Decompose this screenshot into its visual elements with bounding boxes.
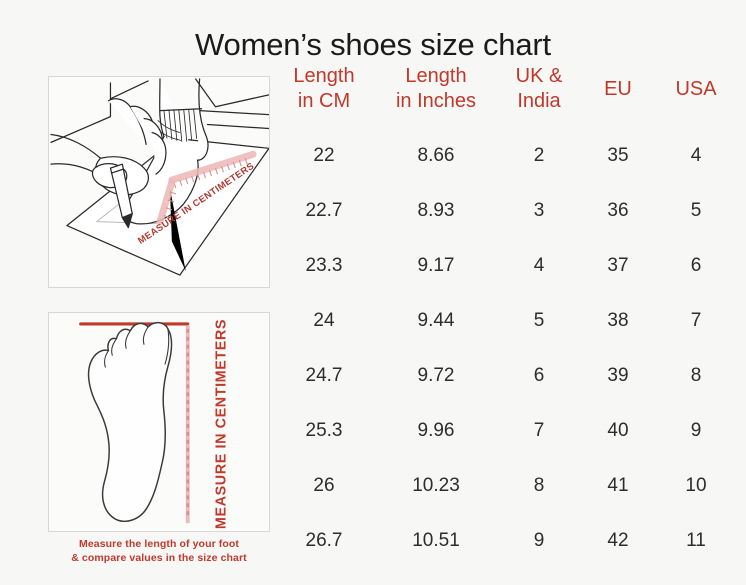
foot-shape: [89, 323, 172, 522]
cell-length-cm: 22.7: [272, 183, 376, 238]
cell-eu: 36: [582, 183, 654, 238]
size-chart-page: Women’s shoes size chart: [0, 0, 746, 585]
header-uk-india: UK & India: [496, 64, 582, 128]
cell-usa: 4: [654, 128, 738, 183]
measure-caption: Measure the length of your foot & compar…: [48, 537, 270, 565]
cell-usa: 11: [654, 513, 738, 568]
cell-eu: 41: [582, 458, 654, 513]
cell-usa: 6: [654, 238, 738, 293]
cell-length-cm: 25.3: [272, 403, 376, 458]
cell-length-cm: 24: [272, 293, 376, 348]
header-length-cm: Length in CM: [272, 64, 376, 128]
header-uk-india-line2: India: [496, 89, 582, 114]
cell-length-cm: 23.3: [272, 238, 376, 293]
cell-usa: 9: [654, 403, 738, 458]
header-usa: USA: [654, 64, 738, 128]
cell-length-inches: 9.72: [376, 348, 496, 403]
cell-length-inches: 9.17: [376, 238, 496, 293]
table-row: 228.662354: [272, 128, 738, 183]
cell-length-inches: 8.93: [376, 183, 496, 238]
table-row: 2610.2384110: [272, 458, 738, 513]
cell-eu: 35: [582, 128, 654, 183]
table-row: 26.710.5194211: [272, 513, 738, 568]
cell-usa: 8: [654, 348, 738, 403]
cell-length-cm: 26: [272, 458, 376, 513]
cell-eu: 40: [582, 403, 654, 458]
illustration-foot-outline: MEASURE IN CENTIMETERS: [48, 312, 270, 532]
cell-length-inches: 9.96: [376, 403, 496, 458]
cell-length-cm: 24.7: [272, 348, 376, 403]
cell-uk-india: 9: [496, 513, 582, 568]
table-body: 228.66235422.78.93336523.39.174376249.44…: [272, 128, 738, 568]
size-chart-table: Length in CM Length in Inches UK & India…: [272, 64, 738, 568]
cell-uk-india: 5: [496, 293, 582, 348]
cell-eu: 42: [582, 513, 654, 568]
table-row: 249.445387: [272, 293, 738, 348]
header-eu: EU: [582, 64, 654, 128]
caption-line-1: Measure the length of your foot: [48, 537, 270, 551]
header-eu-line1: EU: [582, 77, 654, 102]
cell-uk-india: 4: [496, 238, 582, 293]
page-title: Women’s shoes size chart: [0, 27, 746, 63]
trace-foot-drawing: MEASURE IN CENTIMETERS: [49, 77, 269, 287]
cell-length-inches: 8.66: [376, 128, 496, 183]
cell-eu: 38: [582, 293, 654, 348]
table-row: 23.39.174376: [272, 238, 738, 293]
outline-ruler-label: MEASURE IN CENTIMETERS: [213, 319, 229, 529]
cell-usa: 5: [654, 183, 738, 238]
cell-uk-india: 7: [496, 403, 582, 458]
table-row: 24.79.726398: [272, 348, 738, 403]
cell-usa: 7: [654, 293, 738, 348]
illustration-trace-foot: MEASURE IN CENTIMETERS: [48, 76, 270, 288]
cell-length-cm: 22: [272, 128, 376, 183]
cell-uk-india: 2: [496, 128, 582, 183]
cell-uk-india: 8: [496, 458, 582, 513]
table-header-row: Length in CM Length in Inches UK & India…: [272, 64, 738, 128]
cell-eu: 37: [582, 238, 654, 293]
header-length-inches: Length in Inches: [376, 64, 496, 128]
table-row: 22.78.933365: [272, 183, 738, 238]
header-length-cm-line1: Length: [272, 64, 376, 89]
table-row: 25.39.967409: [272, 403, 738, 458]
cell-uk-india: 6: [496, 348, 582, 403]
header-usa-line1: USA: [654, 77, 738, 102]
cell-length-inches: 9.44: [376, 293, 496, 348]
cell-length-inches: 10.51: [376, 513, 496, 568]
cell-eu: 39: [582, 348, 654, 403]
header-length-cm-line2: in CM: [272, 89, 376, 114]
caption-line-2: & compare values in the size chart: [48, 551, 270, 565]
foot-outline-drawing: MEASURE IN CENTIMETERS: [49, 313, 269, 531]
cell-length-inches: 10.23: [376, 458, 496, 513]
cell-length-cm: 26.7: [272, 513, 376, 568]
header-uk-india-line1: UK &: [496, 64, 582, 89]
header-length-inches-line2: in Inches: [376, 89, 496, 114]
cell-uk-india: 3: [496, 183, 582, 238]
header-length-inches-line1: Length: [376, 64, 496, 89]
cell-usa: 10: [654, 458, 738, 513]
